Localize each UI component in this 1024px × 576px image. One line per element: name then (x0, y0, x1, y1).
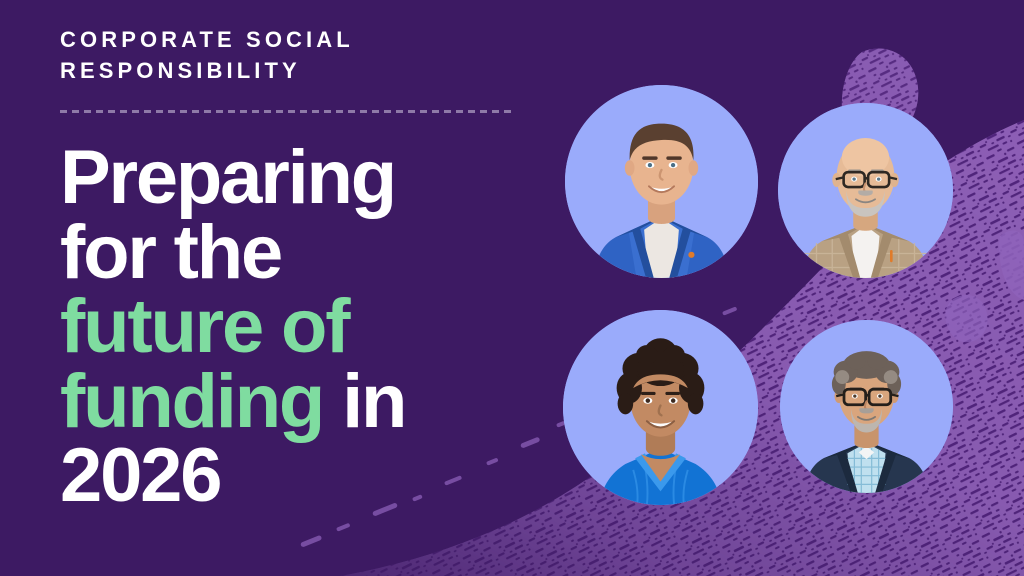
page-title: Preparing for the future of funding in 2… (60, 141, 530, 513)
headline-line-1: Preparing (60, 141, 530, 215)
headline-line-3: future of (60, 290, 530, 364)
portrait-top-right (778, 103, 953, 278)
headline-line-2: for the (60, 216, 530, 290)
headline-line-5: 2026 (60, 439, 530, 513)
headline-accent-word: funding (60, 359, 323, 444)
text-column: CORPORATE SOCIAL RESPONSIBILITY Preparin… (60, 24, 530, 514)
portrait-bottom-right (780, 320, 953, 493)
portrait-top-left (565, 85, 758, 278)
presentation-slide: CORPORATE SOCIAL RESPONSIBILITY Preparin… (0, 0, 1024, 576)
portrait-bottom-left (563, 310, 758, 505)
headline-line-4: funding in (60, 365, 530, 439)
eyebrow-label: CORPORATE SOCIAL RESPONSIBILITY (60, 24, 530, 86)
dashed-divider (60, 110, 513, 113)
headline-line-4-rest: in (323, 359, 405, 444)
